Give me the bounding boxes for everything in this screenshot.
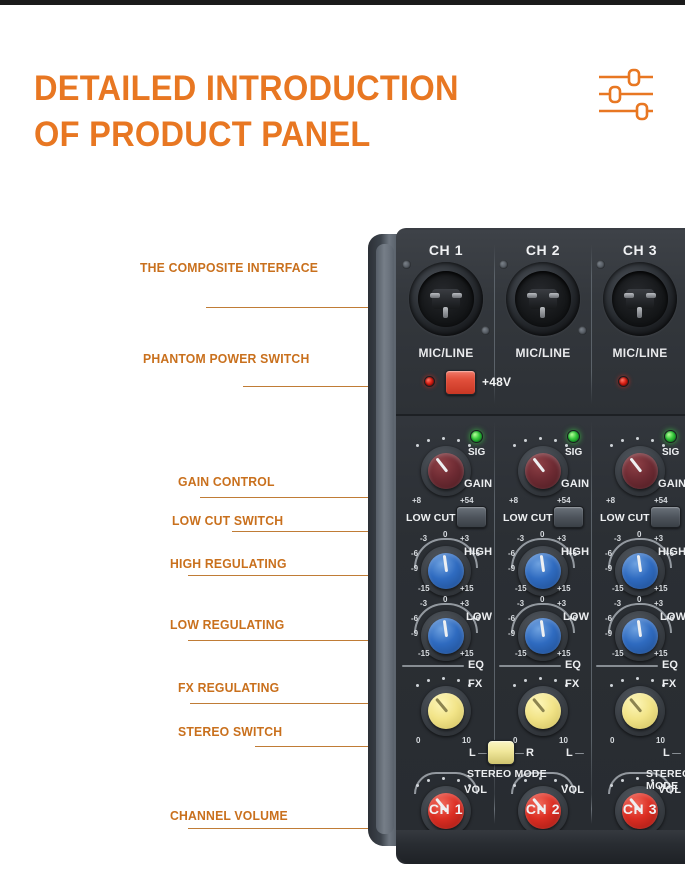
sig-led-2 xyxy=(567,430,580,443)
low-tick: -6 xyxy=(605,614,612,623)
input-label-2: MIC/LINE xyxy=(495,346,591,360)
stereo-left-label: L xyxy=(469,747,476,759)
eq-label-2: EQ xyxy=(565,659,581,671)
low-label-3: LOW xyxy=(660,611,685,623)
footer-divider xyxy=(591,794,592,824)
fx-label-2: FX xyxy=(565,678,579,690)
high-tick: -9 xyxy=(411,564,418,573)
low-tick: -3 xyxy=(614,599,621,608)
xlr-jack-core xyxy=(529,289,557,309)
low-tick: -3 xyxy=(420,599,427,608)
stereo-left-tick-2 xyxy=(575,753,584,754)
mixer-left-rail xyxy=(376,244,394,834)
sig-label-3: SIG xyxy=(662,447,679,458)
xlr-pin xyxy=(646,293,656,298)
callout-label-phantom-power-switch: PHANTOM POWER SWITCH xyxy=(143,351,309,366)
mixer-bottom-bezel xyxy=(396,830,685,864)
mixer-control-panel: SIG +8 +54 GAIN LOW CUT xyxy=(396,416,685,830)
page-title-line2: OF PRODUCT PANEL xyxy=(34,112,471,158)
low-cut-button-1[interactable] xyxy=(456,506,487,528)
low-tick: +15 xyxy=(654,649,668,658)
xlr-pin xyxy=(637,307,642,318)
eq-label-1: EQ xyxy=(468,659,484,671)
xlr-combo-jack-1[interactable] xyxy=(409,262,483,336)
high-tick: -15 xyxy=(612,584,624,593)
low-tick: -3 xyxy=(517,599,524,608)
phantom-led-3 xyxy=(618,376,629,387)
fx-pointer xyxy=(435,698,448,713)
stereo-right-label: R xyxy=(526,747,534,759)
high-label-1: HIGH xyxy=(464,546,492,558)
page-title-line1: DETAILED INTRODUCTION xyxy=(34,69,459,108)
callout-label-stereo-switch: STEREO SWITCH xyxy=(178,724,282,739)
channel-footer-1: CH 1 xyxy=(398,801,494,817)
channel-header-1: CH 1 xyxy=(398,242,494,258)
top-strip xyxy=(0,0,685,5)
high-tick: 0 xyxy=(443,530,447,539)
jack-screw-icon xyxy=(481,326,490,335)
jack-screw-icon xyxy=(578,326,587,335)
fx-max-label-2: 10 xyxy=(559,736,568,745)
gain-min-label-2: +8 xyxy=(509,496,518,505)
high-tick: -9 xyxy=(508,564,515,573)
high-tick: +3 xyxy=(557,534,566,543)
high-tick: -6 xyxy=(411,549,418,558)
channel-1-input: CH 1 MIC/LINE +48V xyxy=(398,230,494,414)
stereo-left-label-2: L xyxy=(566,747,573,759)
eq-divider xyxy=(596,665,658,667)
low-cut-label-3: LOW CUT xyxy=(600,512,650,524)
xlr-jack-core xyxy=(626,289,654,309)
high-tick: -6 xyxy=(605,549,612,558)
high-tick: +3 xyxy=(654,534,663,543)
sig-led-1 xyxy=(470,430,483,443)
high-label-3: HIGH xyxy=(658,546,685,558)
high-tick: +15 xyxy=(654,584,668,593)
high-tick: +15 xyxy=(460,584,474,593)
low-tick: -15 xyxy=(418,649,430,658)
high-tick: +3 xyxy=(460,534,469,543)
fx-min-label-3: 0 xyxy=(610,736,614,745)
low-tick: +3 xyxy=(460,599,469,608)
gain-min-label-3: +8 xyxy=(606,496,615,505)
stereo-mode-label-3: STEREO MODE xyxy=(646,768,685,792)
high-tick: 0 xyxy=(637,530,641,539)
fx-min-label-1: 0 xyxy=(416,736,420,745)
jack-screw-icon xyxy=(596,260,605,269)
low-cut-button-2[interactable] xyxy=(553,506,584,528)
gain-pointer xyxy=(435,457,448,472)
page-title: DETAILED INTRODUCTION OF PRODUCT PANEL xyxy=(34,66,471,158)
low-tick: +3 xyxy=(557,599,566,608)
phantom-led-1 xyxy=(424,376,435,387)
infographic-page: DETAILED INTRODUCTION OF PRODUCT PANEL T… xyxy=(0,0,685,879)
sig-label-2: SIG xyxy=(565,447,582,458)
low-tick: 0 xyxy=(637,595,641,604)
xlr-pin xyxy=(443,307,448,318)
sig-led-3 xyxy=(664,430,677,443)
low-tick: -9 xyxy=(508,629,515,638)
phantom-power-button[interactable] xyxy=(445,370,476,395)
jack-screw-icon xyxy=(402,260,411,269)
high-tick: -6 xyxy=(508,549,515,558)
low-label-2: LOW xyxy=(563,611,589,623)
stereo-left-label-3: L xyxy=(663,747,670,759)
sliders-icon xyxy=(597,66,655,124)
mixer-product-image: CH 1 MIC/LINE +48V xyxy=(368,228,685,868)
input-label-1: MIC/LINE xyxy=(398,346,494,360)
callout-label-fx-regulating: FX REGULATING xyxy=(178,680,279,695)
input-label-3: MIC/LINE xyxy=(592,346,685,360)
low-tick: -15 xyxy=(515,649,527,658)
channel-footer-2: CH 2 xyxy=(495,801,591,817)
stereo-mode-label: STEREO MODE xyxy=(467,768,547,780)
high-label-2: HIGH xyxy=(561,546,589,558)
fx-label-1: FX xyxy=(468,678,482,690)
mixer-input-panel: CH 1 MIC/LINE +48V xyxy=(396,230,685,416)
gain-label-1: GAIN xyxy=(464,478,492,490)
xlr-combo-jack-2[interactable] xyxy=(506,262,580,336)
high-tick: 0 xyxy=(540,530,544,539)
low-tick: -15 xyxy=(612,649,624,658)
gain-label-2: GAIN xyxy=(561,478,589,490)
low-tick: 0 xyxy=(540,595,544,604)
channel-2-input: CH 2 MIC/LINE xyxy=(495,230,591,414)
xlr-jack-core xyxy=(432,289,460,309)
low-tick: 0 xyxy=(443,595,447,604)
xlr-jack-inner xyxy=(515,271,571,327)
vol-label-2: VOL xyxy=(561,784,584,796)
low-tick: +3 xyxy=(654,599,663,608)
xlr-pin xyxy=(452,293,462,298)
eq-divider xyxy=(402,665,464,667)
low-tick: -9 xyxy=(605,629,612,638)
gain-max-label-3: +54 xyxy=(654,496,668,505)
xlr-pin xyxy=(430,293,440,298)
xlr-pin xyxy=(549,293,559,298)
channel-header-2: CH 2 xyxy=(495,242,591,258)
low-tick: +15 xyxy=(557,649,571,658)
sig-label-1: SIG xyxy=(468,447,485,458)
low-tick: -6 xyxy=(508,614,515,623)
high-pointer xyxy=(442,555,447,572)
callout-label-composite-interface: THE COMPOSITE INTERFACE xyxy=(140,260,318,275)
eq-label-3: EQ xyxy=(662,659,678,671)
stereo-right-tick xyxy=(515,753,524,754)
xlr-jack-inner xyxy=(612,271,668,327)
fx-max-label-3: 10 xyxy=(656,736,665,745)
stereo-left-tick xyxy=(478,753,487,754)
callout-label-high-regulating: HIGH REGULATING xyxy=(170,556,287,571)
high-tick: -3 xyxy=(614,534,621,543)
gain-max-label-2: +54 xyxy=(557,496,571,505)
callout-label-channel-volume: CHANNEL VOLUME xyxy=(170,808,288,823)
channel-footer-3: CH 3 xyxy=(592,801,685,817)
low-cut-button-3[interactable] xyxy=(650,506,681,528)
jack-screw-icon xyxy=(499,260,508,269)
footer-divider xyxy=(494,794,495,824)
xlr-combo-jack-3[interactable] xyxy=(603,262,677,336)
high-tick: +15 xyxy=(557,584,571,593)
stereo-mode-button[interactable] xyxy=(487,740,515,765)
low-tick: -6 xyxy=(411,614,418,623)
low-tick: +15 xyxy=(460,649,474,658)
stereo-left-tick-3 xyxy=(672,753,681,754)
vol-label-1: VOL xyxy=(464,784,487,796)
low-cut-label-1: LOW CUT xyxy=(406,512,456,524)
fx-max-label-1: 10 xyxy=(462,736,471,745)
xlr-pin xyxy=(624,293,634,298)
high-tick: -15 xyxy=(418,584,430,593)
fx-label-3: FX xyxy=(662,678,676,690)
mixer-faceplate: CH 1 MIC/LINE +48V xyxy=(396,228,685,864)
high-tick: -3 xyxy=(517,534,524,543)
low-pointer xyxy=(442,620,447,637)
low-cut-label-2: LOW CUT xyxy=(503,512,553,524)
xlr-jack-inner xyxy=(418,271,474,327)
high-tick: -9 xyxy=(605,564,612,573)
channel-header-3: CH 3 xyxy=(592,242,685,258)
callout-label-low-cut-switch: LOW CUT SWITCH xyxy=(172,513,283,528)
xlr-pin xyxy=(540,307,545,318)
gain-max-label-1: +54 xyxy=(460,496,474,505)
xlr-pin xyxy=(527,293,537,298)
low-label-1: LOW xyxy=(466,611,492,623)
low-tick: -9 xyxy=(411,629,418,638)
callout-label-low-regulating: LOW REGULATING xyxy=(170,617,284,632)
eq-divider xyxy=(499,665,561,667)
gain-min-label-1: +8 xyxy=(412,496,421,505)
high-tick: -3 xyxy=(420,534,427,543)
callout-label-gain-control: GAIN CONTROL xyxy=(178,474,275,489)
gain-label-3: GAIN xyxy=(658,478,685,490)
channel-3-input: CH 3 MIC/LINE xyxy=(592,230,685,414)
high-tick: -15 xyxy=(515,584,527,593)
